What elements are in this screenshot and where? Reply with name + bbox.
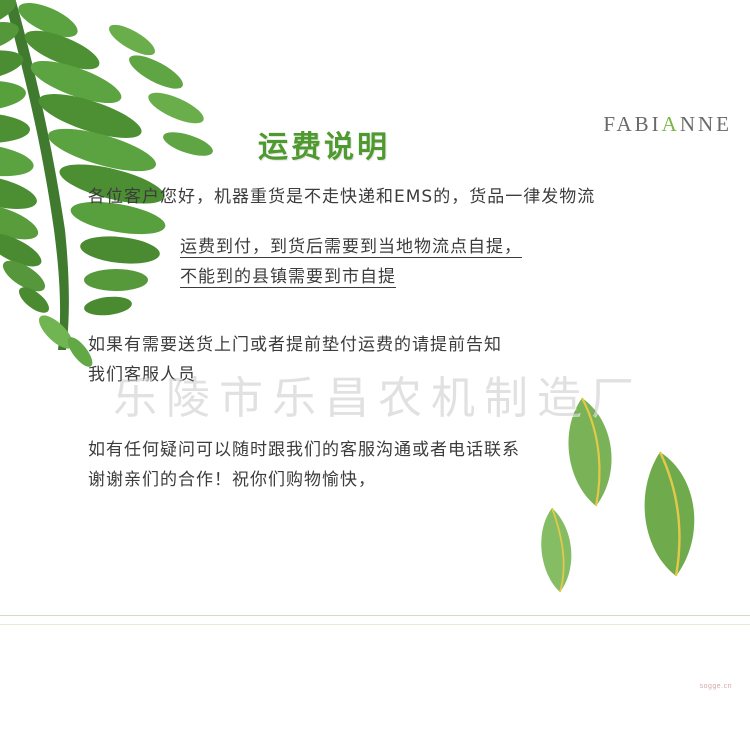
paragraph-freight-collect-highlight: 运费到付，到货后需要到当地物流点自提， 不能到的县镇需要到市自提 <box>180 232 600 292</box>
paragraph-contact-closing: 如有任何疑问可以随时跟我们的客服沟通或者电话联系 谢谢亲们的合作！祝你们购物愉快… <box>88 435 708 495</box>
corner-watermark: sogge.cn <box>700 683 732 690</box>
brand-accent-letter: A <box>662 112 680 136</box>
brand-prefix: FABI <box>603 112 661 136</box>
page-title: 运费说明 <box>258 122 390 166</box>
flyer-page: FABIANNE 运费说明 各位客户您好，机器重货是不走快递和EMS的，货品一律… <box>0 0 750 750</box>
paragraph-door-delivery: 如果有需要送货上门或者提前垫付运费的请提前告知 我们客服人员 <box>88 330 708 390</box>
brand-wordmark: FABIANNE <box>603 112 732 137</box>
leaf-decoration-bottom-right <box>510 380 740 640</box>
divider-line-secondary <box>0 624 750 625</box>
brand-suffix: NNE <box>680 112 732 136</box>
divider-line-primary <box>0 615 750 616</box>
paragraph-shipping-intro: 各位客户您好，机器重货是不走快递和EMS的，货品一律发物流 <box>88 182 728 212</box>
